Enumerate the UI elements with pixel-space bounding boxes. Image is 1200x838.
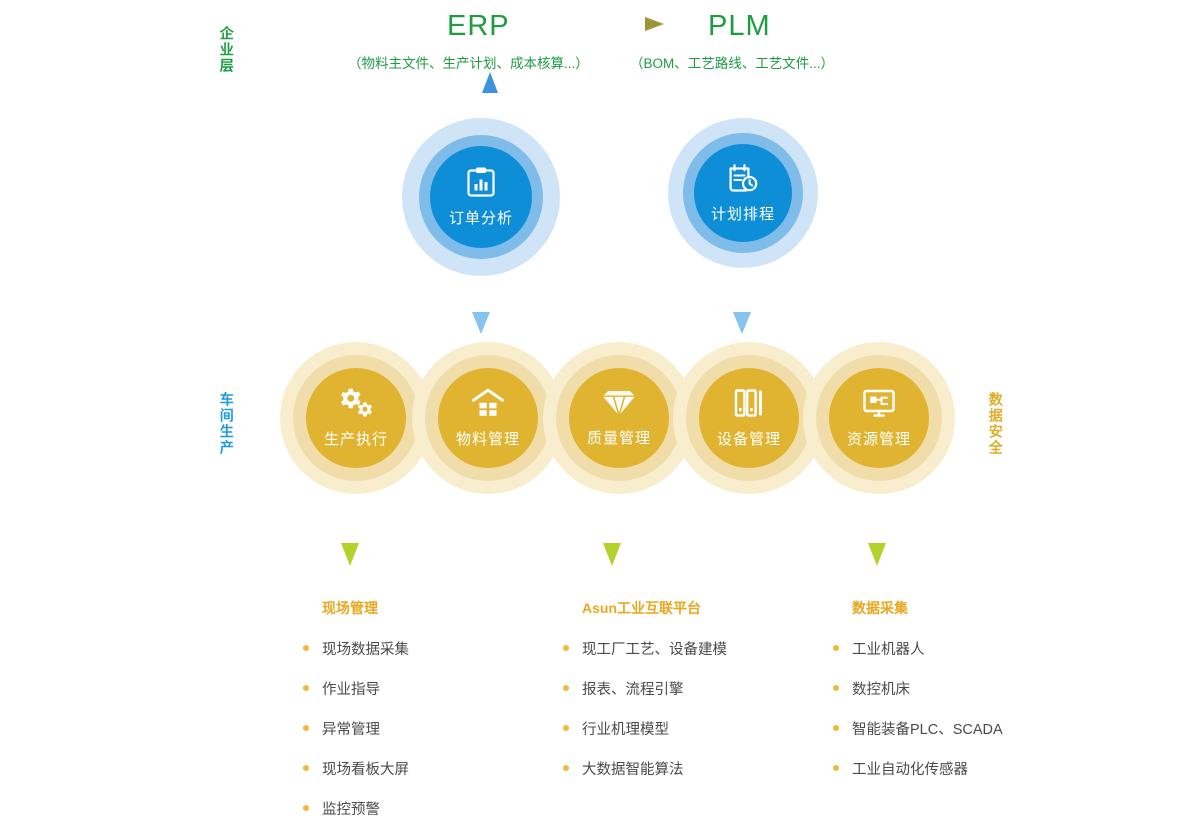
calendar-clock-icon <box>727 163 759 194</box>
bullet-icon <box>303 645 309 651</box>
node-label: 资源管理 <box>847 428 911 449</box>
plm-title: PLM <box>708 10 771 43</box>
arrow-down-to-column-0 <box>341 494 359 566</box>
arrow-erp-to-plm <box>566 17 664 31</box>
node-label: 生产执行 <box>324 428 388 449</box>
bottom-column-asun-platform: Asun工业互联平台 现工厂工艺、设备建模 报表、流程引擎 行业机理模型 大数据… <box>560 598 727 798</box>
list-item: 数控机床 <box>830 678 1003 699</box>
list-item-label: 作业指导 <box>322 682 380 698</box>
list-item: 现工厂工艺、设备建模 <box>560 638 727 659</box>
column-list: 工业机器人 数控机床 智能装备PLC、SCADA 工业自动化传感器 <box>830 638 1003 779</box>
diagram-canvas: 企业层 车间生产 数据安全 ERP PLM （物料主文件、生产计划、成本核算..… <box>0 0 1200 808</box>
bullet-icon <box>833 685 839 691</box>
node-material-management[interactable]: 物料管理 <box>412 342 564 494</box>
bullet-icon <box>563 765 569 771</box>
node-label: 质量管理 <box>587 427 651 448</box>
list-item-label: 行业机理模型 <box>582 722 669 738</box>
list-item-label: 现工厂工艺、设备建模 <box>582 642 727 658</box>
list-item: 作业指导 <box>300 678 409 699</box>
list-item: 工业机器人 <box>830 638 1003 659</box>
list-item-label: 异常管理 <box>322 722 380 738</box>
bottom-column-site-management: 现场管理 现场数据采集 作业指导 异常管理 现场看板大屏 监控预警 <box>300 598 409 838</box>
bullet-icon <box>833 725 839 731</box>
bullet-icon <box>833 645 839 651</box>
column-title: 现场管理 <box>322 598 409 618</box>
node-label: 物料管理 <box>456 428 520 449</box>
list-item: 智能装备PLC、SCADA <box>830 718 1003 739</box>
node-production-execution[interactable]: 生产执行 <box>280 342 432 494</box>
bullet-icon <box>303 805 309 811</box>
node-label: 计划排程 <box>711 203 775 224</box>
list-item: 异常管理 <box>300 718 409 739</box>
side-label-workshop-production: 车间生产 <box>219 392 234 456</box>
list-item: 行业机理模型 <box>560 718 727 739</box>
bullet-icon <box>563 645 569 651</box>
list-item: 现场看板大屏 <box>300 758 409 779</box>
list-item-label: 工业自动化传感器 <box>852 762 968 778</box>
clipboard-chart-icon <box>466 166 496 198</box>
warehouse-icon <box>471 387 505 419</box>
bottom-column-data-acquisition: 数据采集 工业机器人 数控机床 智能装备PLC、SCADA 工业自动化传感器 <box>830 598 1003 798</box>
gears-icon <box>338 387 374 419</box>
list-item-label: 报表、流程引擎 <box>582 682 684 698</box>
bullet-icon <box>303 765 309 771</box>
bullet-icon <box>833 765 839 771</box>
column-title: 数据采集 <box>852 598 1003 618</box>
list-item-label: 监控预警 <box>322 802 380 818</box>
list-item-label: 现场看板大屏 <box>322 762 409 778</box>
bullet-icon <box>303 685 309 691</box>
bullet-icon <box>563 685 569 691</box>
list-item-label: 智能装备PLC、SCADA <box>852 722 1003 738</box>
column-title: Asun工业互联平台 <box>582 598 727 618</box>
list-item: 监控预警 <box>300 798 409 819</box>
bullet-icon <box>563 725 569 731</box>
arrow-down-to-column-2 <box>868 494 886 566</box>
side-label-data-security: 数据安全 <box>988 392 1003 456</box>
list-item-label: 数控机床 <box>852 682 910 698</box>
list-item-label: 大数据智能算法 <box>582 762 684 778</box>
diamond-icon <box>601 388 637 418</box>
column-list: 现场数据采集 作业指导 异常管理 现场看板大屏 监控预警 <box>300 638 409 819</box>
list-item-label: 工业机器人 <box>852 642 925 658</box>
bullet-icon <box>303 725 309 731</box>
binders-icon <box>733 387 765 419</box>
column-list: 现工厂工艺、设备建模 报表、流程引擎 行业机理模型 大数据智能算法 <box>560 638 727 779</box>
arrow-down-to-column-1 <box>603 494 621 566</box>
list-item: 现场数据采集 <box>300 638 409 659</box>
list-item: 工业自动化传感器 <box>830 758 1003 779</box>
erp-title: ERP <box>447 10 510 43</box>
monitor-network-icon <box>862 388 896 419</box>
side-label-enterprise-layer: 企业层 <box>219 26 234 74</box>
plm-subtitle: （BOM、工艺路线、工艺文件...） <box>630 52 834 72</box>
node-label: 设备管理 <box>717 428 781 449</box>
node-resource-management[interactable]: 资源管理 <box>803 342 955 494</box>
node-order-analysis[interactable]: 订单分析 <box>402 118 560 276</box>
erp-subtitle: （物料主文件、生产计划、成本核算...） <box>348 52 589 72</box>
list-item: 大数据智能算法 <box>560 758 727 779</box>
list-item: 报表、流程引擎 <box>560 678 727 699</box>
list-item-label: 现场数据采集 <box>322 642 409 658</box>
node-planning-scheduling[interactable]: 计划排程 <box>668 118 818 268</box>
node-label: 订单分析 <box>449 207 513 228</box>
